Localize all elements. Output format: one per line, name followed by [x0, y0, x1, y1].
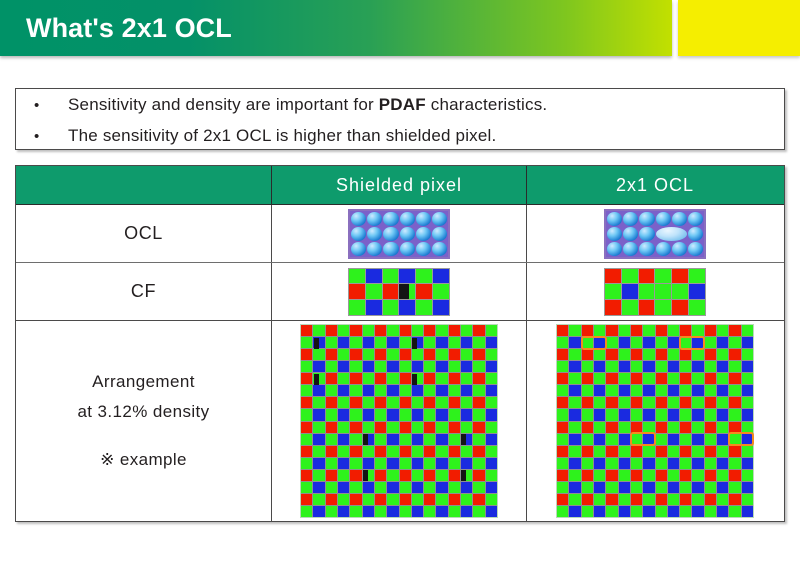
bayer-cell: [569, 409, 580, 420]
bayer-cell: [594, 506, 605, 517]
bayer-cell: [301, 397, 312, 408]
bayer-cell: [692, 325, 703, 336]
bayer-cell: [461, 361, 472, 372]
bayer-cell: [301, 506, 312, 517]
bayer-cell: [326, 325, 337, 336]
bayer-cell: [461, 385, 472, 396]
bayer-cell: [400, 482, 411, 493]
microlens: [432, 212, 447, 226]
bayer-cell: [461, 458, 472, 469]
bayer-cell: [326, 482, 337, 493]
ocl-pair-marker: [630, 432, 657, 446]
bayer-cell: [363, 373, 374, 384]
microlens: [383, 227, 398, 241]
bayer-cell: [350, 494, 361, 505]
bayer-cell: [424, 422, 435, 433]
bayer-cell: [486, 506, 497, 517]
bayer-cell: [742, 349, 753, 360]
cf-cell-b: [433, 269, 449, 284]
bayer-cell: [705, 434, 716, 445]
bayer-cell: [680, 506, 691, 517]
bayer-cell: [412, 482, 423, 493]
bayer-cell: [692, 361, 703, 372]
microlens: [351, 242, 366, 256]
bayer-cell: [363, 422, 374, 433]
bayer-cell: [449, 422, 460, 433]
bayer-cell: [619, 337, 630, 348]
bayer-cell: [350, 385, 361, 396]
bayer-cell: [301, 337, 312, 348]
bayer-cell: [424, 397, 435, 408]
bayer-cell: [582, 397, 593, 408]
cf-cell-g: [655, 284, 671, 299]
bayer-cell: [680, 409, 691, 420]
microlens: [639, 227, 654, 241]
microlens: [367, 242, 382, 256]
bayer-cell: [668, 325, 679, 336]
bayer-cell: [582, 482, 593, 493]
cf-cell-r: [416, 284, 432, 299]
cf-cell-b: [399, 269, 415, 284]
bayer-cell: [631, 458, 642, 469]
bayer-cell: [486, 446, 497, 457]
bayer-cell: [582, 325, 593, 336]
bayer-cell: [301, 385, 312, 396]
bayer-cell: [705, 482, 716, 493]
cf-cell-r: [383, 284, 399, 299]
bayer-cell: [656, 434, 667, 445]
bayer-cell: [742, 385, 753, 396]
bayer-cell: [486, 373, 497, 384]
bayer-cell: [717, 422, 728, 433]
bayer-cell: [473, 373, 484, 384]
bayer-grid: [301, 325, 497, 517]
bayer-cell: [692, 397, 703, 408]
ocl-pair-marker: [581, 336, 608, 350]
bayer-cell: [424, 458, 435, 469]
bayer-cell: [668, 385, 679, 396]
bayer-cell: [313, 385, 324, 396]
bayer-cell: [631, 385, 642, 396]
arrangement-line-3: ※ example: [100, 445, 187, 475]
microlens: [607, 212, 622, 226]
bayer-cell: [338, 361, 349, 372]
bayer-cell: [668, 422, 679, 433]
bayer-cell: [461, 373, 472, 384]
bayer-cell: [424, 361, 435, 372]
cf-cell-r: [639, 269, 655, 284]
bayer-cell: [363, 397, 374, 408]
bayer-cell: [717, 446, 728, 457]
bayer-cell: [631, 373, 642, 384]
header-accent-block: [678, 0, 800, 56]
bayer-cell: [656, 446, 667, 457]
bayer-cell: [631, 409, 642, 420]
bayer-cell: [569, 446, 580, 457]
bayer-cell: [412, 494, 423, 505]
bayer-cell: [631, 470, 642, 481]
bayer-cell: [692, 373, 703, 384]
microlens: [607, 227, 622, 241]
bayer-cell: [436, 434, 447, 445]
row-label-cf: CF: [131, 281, 156, 302]
summary-box: • Sensitivity and density are important …: [15, 88, 785, 150]
bayer-cell: [436, 325, 447, 336]
bayer-cell: [680, 434, 691, 445]
bayer-cell: [643, 397, 654, 408]
bayer-cell: [473, 349, 484, 360]
table-header-2x1-ocl-label: 2x1 OCL: [616, 175, 694, 196]
bayer-cell: [313, 482, 324, 493]
bayer-cell: [692, 482, 703, 493]
cf-2x1-cell: [527, 263, 783, 320]
bayer-cell: [569, 422, 580, 433]
bayer-cell: [717, 361, 728, 372]
bayer-cell: [412, 422, 423, 433]
bayer-cell: [569, 482, 580, 493]
bayer-cell: [656, 494, 667, 505]
bayer-cell: [424, 446, 435, 457]
bayer-cell: [461, 446, 472, 457]
bullet-marker-icon: •: [34, 121, 68, 152]
cf-cell-g: [366, 284, 382, 299]
bayer-cell: [619, 373, 630, 384]
bayer-cell: [569, 325, 580, 336]
bayer-cell: [557, 361, 568, 372]
bayer-cell: [461, 337, 472, 348]
bayer-cell: [338, 349, 349, 360]
bayer-cell: [557, 506, 568, 517]
bayer-cell: [387, 361, 398, 372]
cf-cell-r: [639, 300, 655, 315]
bayer-cell: [729, 494, 740, 505]
bayer-cell: [473, 337, 484, 348]
bayer-cell: [631, 446, 642, 457]
bayer-cell: [436, 337, 447, 348]
bayer-cell: [313, 409, 324, 420]
bayer-cell: [461, 349, 472, 360]
bayer-cell: [387, 446, 398, 457]
microlens: [623, 227, 638, 241]
bayer-cell: [643, 422, 654, 433]
bayer-cell: [326, 446, 337, 457]
bayer-cell: [363, 337, 374, 348]
bayer-cell: [705, 385, 716, 396]
bayer-cell: [461, 482, 472, 493]
bayer-cell: [643, 325, 654, 336]
bayer-cell: [350, 337, 361, 348]
bayer-cell: [473, 397, 484, 408]
bayer-cell: [680, 458, 691, 469]
bayer-cell: [350, 458, 361, 469]
bayer-cell: [449, 482, 460, 493]
bayer-cell: [436, 397, 447, 408]
bayer-cell: [400, 337, 411, 348]
bayer-cell: [606, 361, 617, 372]
bayer-cell: [461, 494, 472, 505]
bayer-cell: [643, 494, 654, 505]
bayer-cell: [594, 482, 605, 493]
bayer-cell: [582, 385, 593, 396]
bullet-text-2: The sensitivity of 2x1 OCL is higher tha…: [68, 120, 496, 151]
bayer-cell: [557, 337, 568, 348]
bayer-cell: [668, 349, 679, 360]
cf-cell-g: [689, 269, 705, 284]
bayer-cell: [729, 325, 740, 336]
bayer-cell: [717, 397, 728, 408]
table-header-corner: [16, 166, 272, 204]
bayer-cell: [350, 446, 361, 457]
bullet-marker-icon: •: [34, 90, 68, 121]
bayer-cell: [375, 422, 386, 433]
bayer-cell: [363, 361, 374, 372]
bayer-cell: [606, 470, 617, 481]
bayer-cell: [387, 349, 398, 360]
microlens: [432, 242, 447, 256]
bayer-cell: [692, 458, 703, 469]
bayer-cell: [705, 361, 716, 372]
bayer-cell: [461, 409, 472, 420]
bayer-cell: [387, 494, 398, 505]
shielded-pixel-marker: [461, 434, 466, 445]
bayer-cell: [313, 506, 324, 517]
table-row-ocl: OCL: [16, 205, 784, 263]
bayer-cell: [606, 458, 617, 469]
bayer-cell: [449, 337, 460, 348]
bayer-cell: [656, 349, 667, 360]
bayer-cell: [717, 506, 728, 517]
bayer-cell: [569, 470, 580, 481]
bullet-1-emphasis: PDAF: [379, 95, 426, 114]
bayer-cell: [436, 349, 447, 360]
bayer-cell: [606, 409, 617, 420]
bayer-cell: [680, 494, 691, 505]
bayer-cell: [606, 373, 617, 384]
bayer-cell: [461, 397, 472, 408]
bayer-cell: [692, 434, 703, 445]
bayer-cell: [400, 458, 411, 469]
bayer-cell: [338, 397, 349, 408]
table-header-shielded-pixel-label: Shielded pixel: [336, 175, 462, 196]
bayer-cell: [606, 397, 617, 408]
bayer-cell: [326, 409, 337, 420]
bayer-cell: [742, 337, 753, 348]
bayer-cell: [594, 409, 605, 420]
bayer-cell: [742, 482, 753, 493]
bayer-cell: [631, 422, 642, 433]
bayer-cell: [729, 337, 740, 348]
bayer-cell: [400, 373, 411, 384]
bayer-cell: [400, 470, 411, 481]
bayer-cell: [473, 494, 484, 505]
bayer-cell: [400, 409, 411, 420]
bayer-cell: [436, 409, 447, 420]
bayer-cell: [436, 482, 447, 493]
bayer-cell: [338, 506, 349, 517]
bayer-cell: [375, 434, 386, 445]
bayer-cell: [375, 385, 386, 396]
bayer-cell: [717, 482, 728, 493]
bayer-cell: [705, 422, 716, 433]
bayer-cell: [643, 385, 654, 396]
bayer-cell: [486, 494, 497, 505]
bayer-cell: [313, 470, 324, 481]
bayer-cell: [606, 349, 617, 360]
bayer-cell: [473, 434, 484, 445]
bayer-cell: [486, 458, 497, 469]
bayer-cell: [643, 446, 654, 457]
bayer-cell: [631, 325, 642, 336]
bayer-cell: [449, 325, 460, 336]
bayer-cell: [449, 446, 460, 457]
bayer-cell: [424, 434, 435, 445]
bayer-cell: [326, 373, 337, 384]
bayer-cell: [656, 458, 667, 469]
bayer-cell: [619, 422, 630, 433]
bayer-cell: [594, 397, 605, 408]
bayer-cell: [363, 494, 374, 505]
bayer-cell: [582, 373, 593, 384]
bayer-cell: [375, 337, 386, 348]
bayer-cell: [569, 506, 580, 517]
bayer-cell: [643, 337, 654, 348]
bayer-cell: [449, 361, 460, 372]
bullet-1-pre: Sensitivity and density are important fo…: [68, 95, 379, 114]
bayer-cell: [656, 325, 667, 336]
bayer-cell: [631, 349, 642, 360]
bayer-cell: [363, 482, 374, 493]
cf-cell-r: [349, 284, 365, 299]
bayer-cell: [313, 397, 324, 408]
microlens: [623, 242, 638, 256]
bayer-cell: [412, 325, 423, 336]
microlens: [607, 242, 622, 256]
microlens: [688, 242, 703, 256]
bayer-cell: [301, 494, 312, 505]
comparison-table: Shielded pixel 2x1 OCL OCL CF Arrang: [15, 165, 785, 522]
bayer-cell: [387, 385, 398, 396]
microlens: [367, 227, 382, 241]
bayer-cell: [301, 422, 312, 433]
bayer-cell: [631, 337, 642, 348]
bayer-cell: [594, 470, 605, 481]
bayer-cell: [350, 409, 361, 420]
bayer-cell: [412, 446, 423, 457]
microlens: [367, 212, 382, 226]
bayer-cell: [486, 361, 497, 372]
bayer-cell: [400, 494, 411, 505]
bayer-cell: [326, 458, 337, 469]
shielded-pixel-marker: [461, 470, 466, 481]
bayer-cell: [473, 470, 484, 481]
bayer-cell: [742, 409, 753, 420]
bayer-cell: [742, 373, 753, 384]
bayer-cell: [631, 361, 642, 372]
bayer-cell: [449, 434, 460, 445]
bayer-cell: [375, 482, 386, 493]
bayer-cell: [705, 349, 716, 360]
bayer-cell: [313, 446, 324, 457]
page-title: What's 2x1 OCL: [26, 9, 232, 47]
bayer-cell: [729, 397, 740, 408]
bayer-cell: [424, 494, 435, 505]
bayer-cell: [619, 397, 630, 408]
bayer-cell: [387, 337, 398, 348]
bayer-cell: [569, 434, 580, 445]
bayer-cell: [313, 422, 324, 433]
bayer-cell: [619, 470, 630, 481]
bayer-cell: [668, 494, 679, 505]
bayer-cell: [363, 385, 374, 396]
cf-cell-g: [416, 269, 432, 284]
microlens: [656, 212, 671, 226]
bayer-cell: [705, 397, 716, 408]
bayer-cell: [313, 361, 324, 372]
bayer-cell: [557, 446, 568, 457]
cf-cell-g: [416, 300, 432, 315]
bayer-cell: [301, 373, 312, 384]
bayer-cell: [569, 337, 580, 348]
microlens: [416, 242, 431, 256]
bayer-cell: [594, 349, 605, 360]
bayer-cell: [557, 458, 568, 469]
bayer-cell: [631, 506, 642, 517]
bayer-cell: [717, 373, 728, 384]
bayer-cell: [375, 397, 386, 408]
bayer-cell: [375, 349, 386, 360]
bayer-cell: [449, 470, 460, 481]
bayer-cell: [717, 470, 728, 481]
pixel-arrangement-2x1-image: [556, 324, 754, 518]
bayer-cell: [313, 434, 324, 445]
microlens: [400, 227, 415, 241]
bayer-cell: [729, 458, 740, 469]
bayer-cell: [569, 361, 580, 372]
bayer-cell: [705, 446, 716, 457]
bayer-cell: [387, 373, 398, 384]
bayer-cell: [424, 409, 435, 420]
bayer-cell: [363, 458, 374, 469]
ocl-pair-marker: [679, 336, 706, 350]
bayer-cell: [569, 349, 580, 360]
bayer-cell: [301, 325, 312, 336]
bayer-cell: [363, 506, 374, 517]
bayer-cell: [400, 422, 411, 433]
cf-cell-g: [622, 300, 638, 315]
bayer-cell: [375, 325, 386, 336]
bayer-cell: [594, 373, 605, 384]
bayer-cell: [668, 409, 679, 420]
bayer-cell: [680, 325, 691, 336]
cf-cell-b: [622, 284, 638, 299]
cf-cell-b: [366, 300, 382, 315]
bayer-cell: [557, 482, 568, 493]
bayer-cell: [619, 446, 630, 457]
shielded-pixel-marker: [314, 338, 319, 349]
bayer-cell: [594, 422, 605, 433]
bayer-cell: [729, 361, 740, 372]
bayer-cell: [338, 337, 349, 348]
bayer-cell: [338, 494, 349, 505]
bayer-cell: [606, 385, 617, 396]
bayer-cell: [668, 458, 679, 469]
bayer-cell: [680, 349, 691, 360]
bayer-cell: [486, 434, 497, 445]
bayer-cell: [473, 446, 484, 457]
ocl-pair-marker: [728, 432, 755, 446]
bayer-cell: [643, 409, 654, 420]
bayer-cell: [668, 337, 679, 348]
